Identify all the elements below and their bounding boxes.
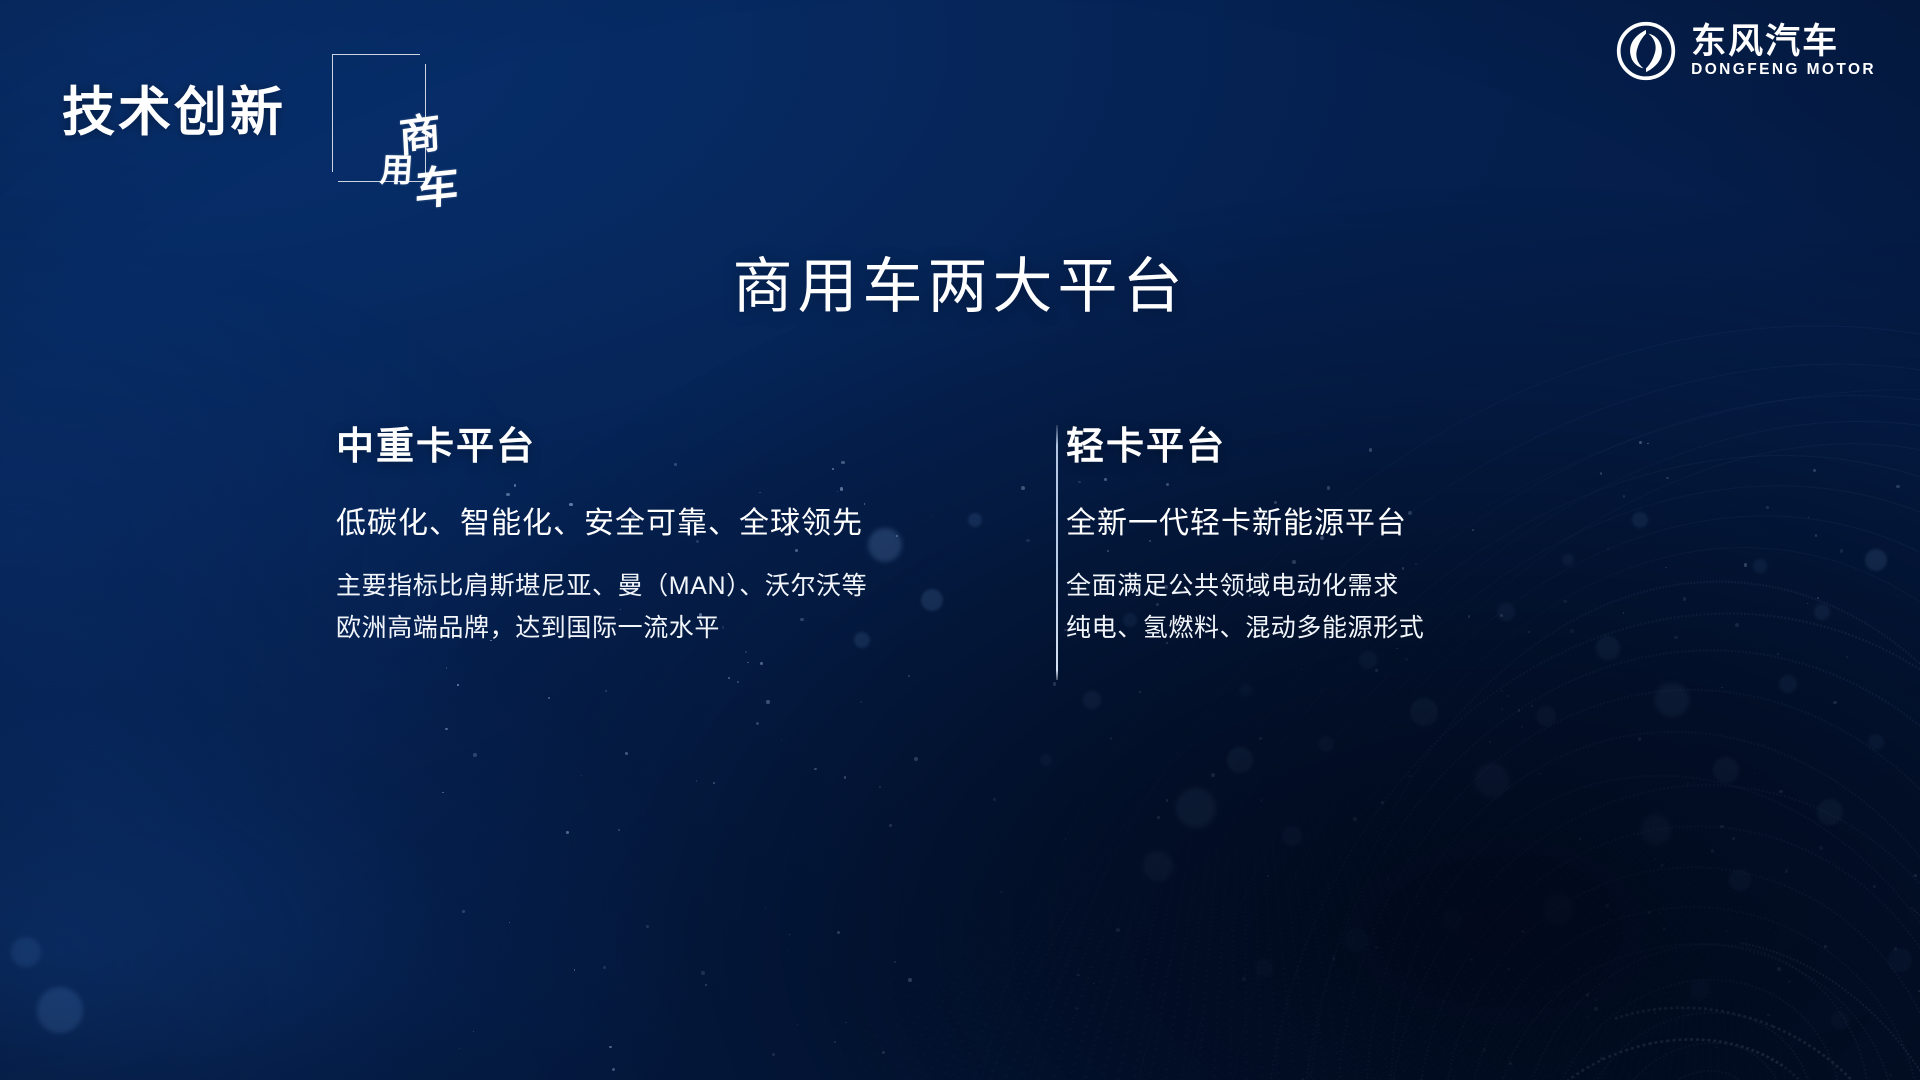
dongfeng-emblem-icon [1615,20,1677,82]
platform-heading: 中重卡平台 [336,428,926,466]
brand-text-block: 东风汽车 DONGFENG MOTOR [1691,24,1876,78]
platform-column-heavy-truck: 中重卡平台 低碳化、智能化、安全可靠、全球领先 主要指标比肩斯堪尼亚、曼（MAN… [336,428,926,649]
seal-char-shang: 商 [398,115,441,159]
platform-columns: 中重卡平台 低碳化、智能化、安全可靠、全球领先 主要指标比肩斯堪尼亚、曼（MAN… [336,428,1656,649]
platform-lead: 全新一代轻卡新能源平台 [1066,506,1656,543]
seal-char-yong: 用 [379,156,413,187]
platform-column-light-truck: 轻卡平台 全新一代轻卡新能源平台 全面满足公共领域电动化需求 纯电、氢燃料、混动… [1066,428,1656,649]
kicker-title: 技术创新 [62,86,286,139]
seal-char-che: 车 [414,167,457,212]
platform-detail-line: 主要指标比肩斯堪尼亚、曼（MAN）、沃尔沃等 [336,565,926,607]
brand-logo: 东风汽车 DONGFENG MOTOR [1615,20,1876,82]
platform-lead: 低碳化、智能化、安全可靠、全球领先 [336,506,926,543]
commercial-vehicle-seal: 商 用 车 [332,54,420,172]
platform-detail-line: 纯电、氢燃料、混动多能源形式 [1066,607,1656,649]
page-title: 商用车两大平台 [0,238,1920,325]
platform-detail-line: 全面满足公共领域电动化需求 [1066,565,1656,607]
platform-detail-line: 欧洲高端品牌，达到国际一流水平 [336,607,926,649]
brand-name-cn: 东风汽车 [1691,24,1876,59]
header-kicker: 技术创新 商 用 车 [62,86,420,172]
platform-heading: 轻卡平台 [1066,428,1656,466]
slide-canvas: 技术创新 商 用 车 东风汽车 DONGFENG MOTOR 商用车两大平台 中… [0,0,1920,1080]
brand-name-en: DONGFENG MOTOR [1691,62,1876,78]
